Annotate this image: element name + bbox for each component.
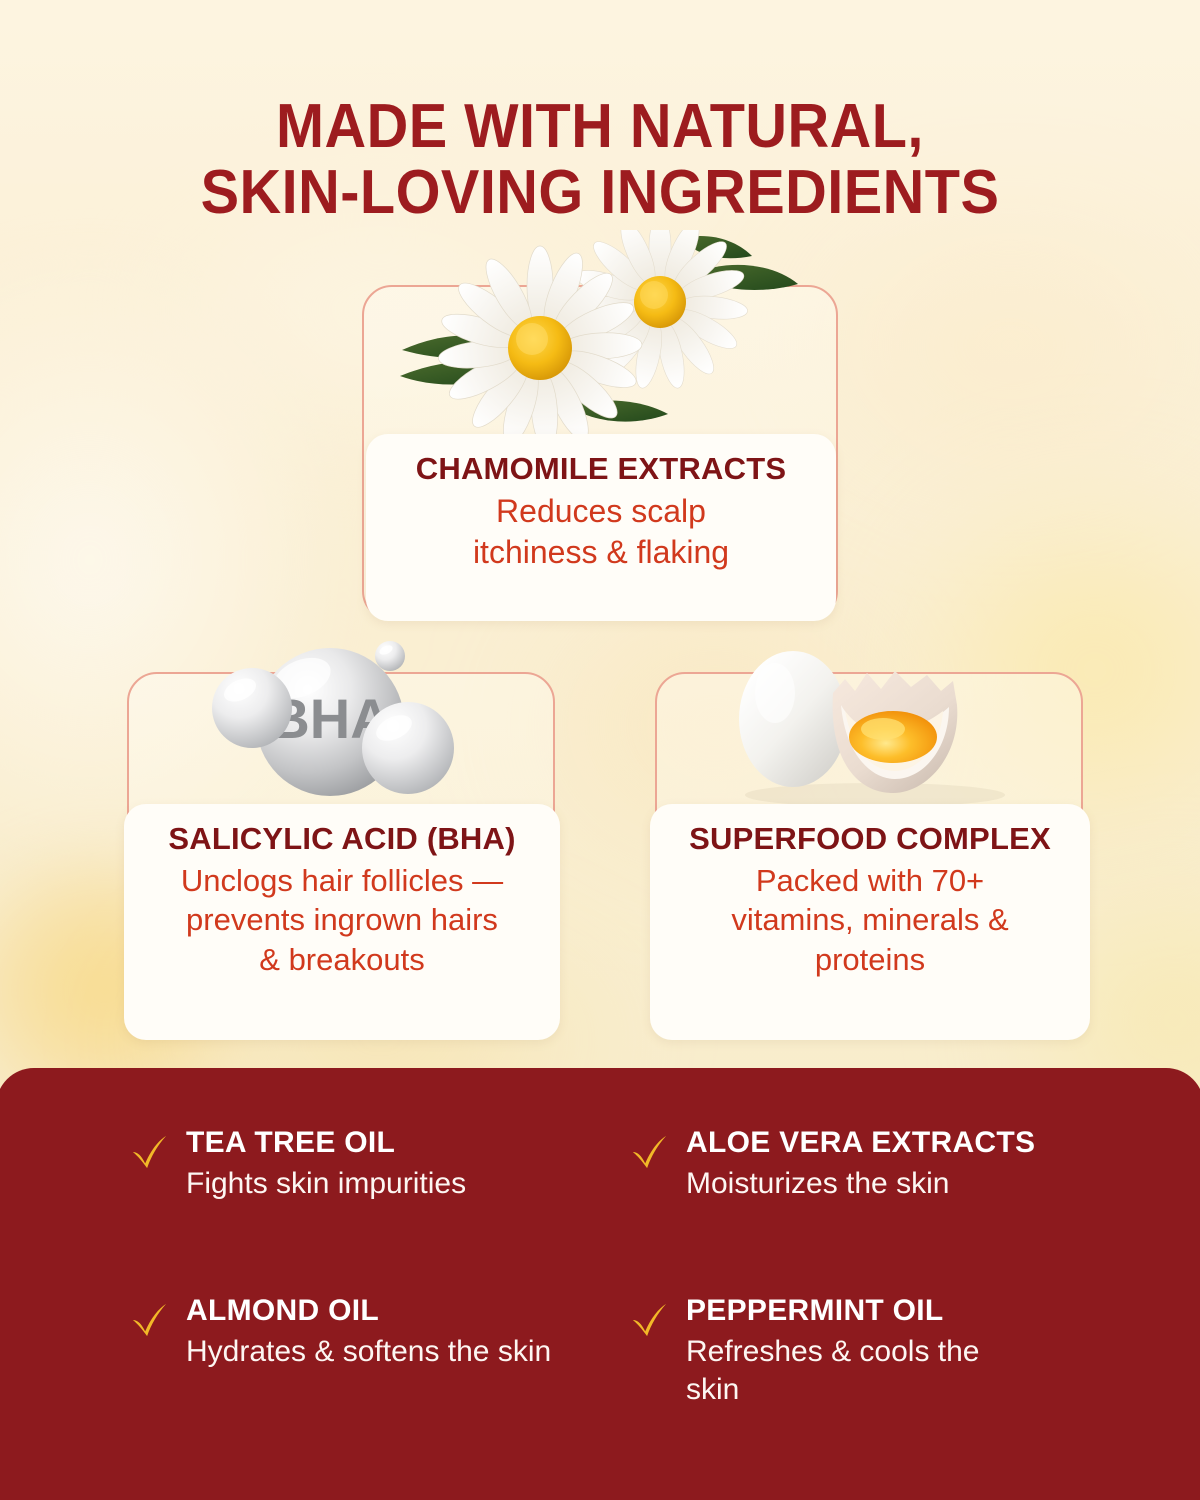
benefit-item-peppermint-oil: PEPPERMINT OIL Refreshes & cools the ski… — [630, 1294, 1105, 1500]
benefit-title-aloe-vera-extracts: ALOE VERA EXTRACTS — [686, 1126, 1035, 1161]
ingredient-title-salicylic-acid: SALICYLIC ACID (BHA) — [138, 822, 546, 857]
benefits-list: TEA TREE OIL Fights skin impurities ALOE… — [0, 1068, 1200, 1500]
ingredient-panel-chamomile: CHAMOMILE EXTRACTS Reduces scalp itchine… — [366, 434, 836, 621]
ingredient-panel-superfood-complex: SUPERFOOD COMPLEX Packed with 70+ vitami… — [650, 804, 1090, 1040]
ingredients-infographic: MADE WITH NATURAL, SKIN-LOVING INGREDIEN… — [0, 0, 1200, 1500]
ingredient-panel-salicylic-acid: SALICYLIC ACID (BHA) Unclogs hair follic… — [124, 804, 560, 1040]
ingredient-title-superfood-complex: SUPERFOOD COMPLEX — [664, 822, 1076, 857]
check-icon — [630, 1300, 668, 1340]
benefit-description-peppermint-oil: Refreshes & cools the skin — [686, 1333, 986, 1409]
ingredient-description-salicylic-acid: Unclogs hair follicles — prevents ingrow… — [138, 861, 546, 980]
benefit-title-almond-oil: ALMOND OIL — [186, 1294, 551, 1329]
page-title: MADE WITH NATURAL, SKIN-LOVING INGREDIEN… — [42, 94, 1158, 228]
benefit-description-aloe-vera-extracts: Moisturizes the skin — [686, 1165, 1035, 1203]
benefit-item-tea-tree-oil: TEA TREE OIL Fights skin impurities — [130, 1126, 620, 1294]
benefit-title-tea-tree-oil: TEA TREE OIL — [186, 1126, 466, 1161]
benefit-item-almond-oil: ALMOND OIL Hydrates & softens the skin — [130, 1294, 620, 1500]
page-title-line-1: MADE WITH NATURAL, — [276, 92, 924, 161]
benefit-description-tea-tree-oil: Fights skin impurities — [186, 1165, 466, 1203]
ingredient-description-superfood-complex: Packed with 70+ vitamins, minerals & pro… — [664, 861, 1076, 980]
benefit-item-aloe-vera-extracts: ALOE VERA EXTRACTS Moisturizes the skin — [630, 1126, 1105, 1294]
benefit-title-peppermint-oil: PEPPERMINT OIL — [686, 1294, 986, 1329]
check-icon — [130, 1300, 168, 1340]
benefit-description-almond-oil: Hydrates & softens the skin — [186, 1333, 551, 1371]
check-icon — [130, 1132, 168, 1172]
ingredient-title-chamomile: CHAMOMILE EXTRACTS — [380, 452, 822, 487]
check-icon — [630, 1132, 668, 1172]
ingredient-description-chamomile: Reduces scalp itchiness & flaking — [380, 491, 822, 573]
page-title-line-2: SKIN-LOVING INGREDIENTS — [42, 160, 1158, 227]
